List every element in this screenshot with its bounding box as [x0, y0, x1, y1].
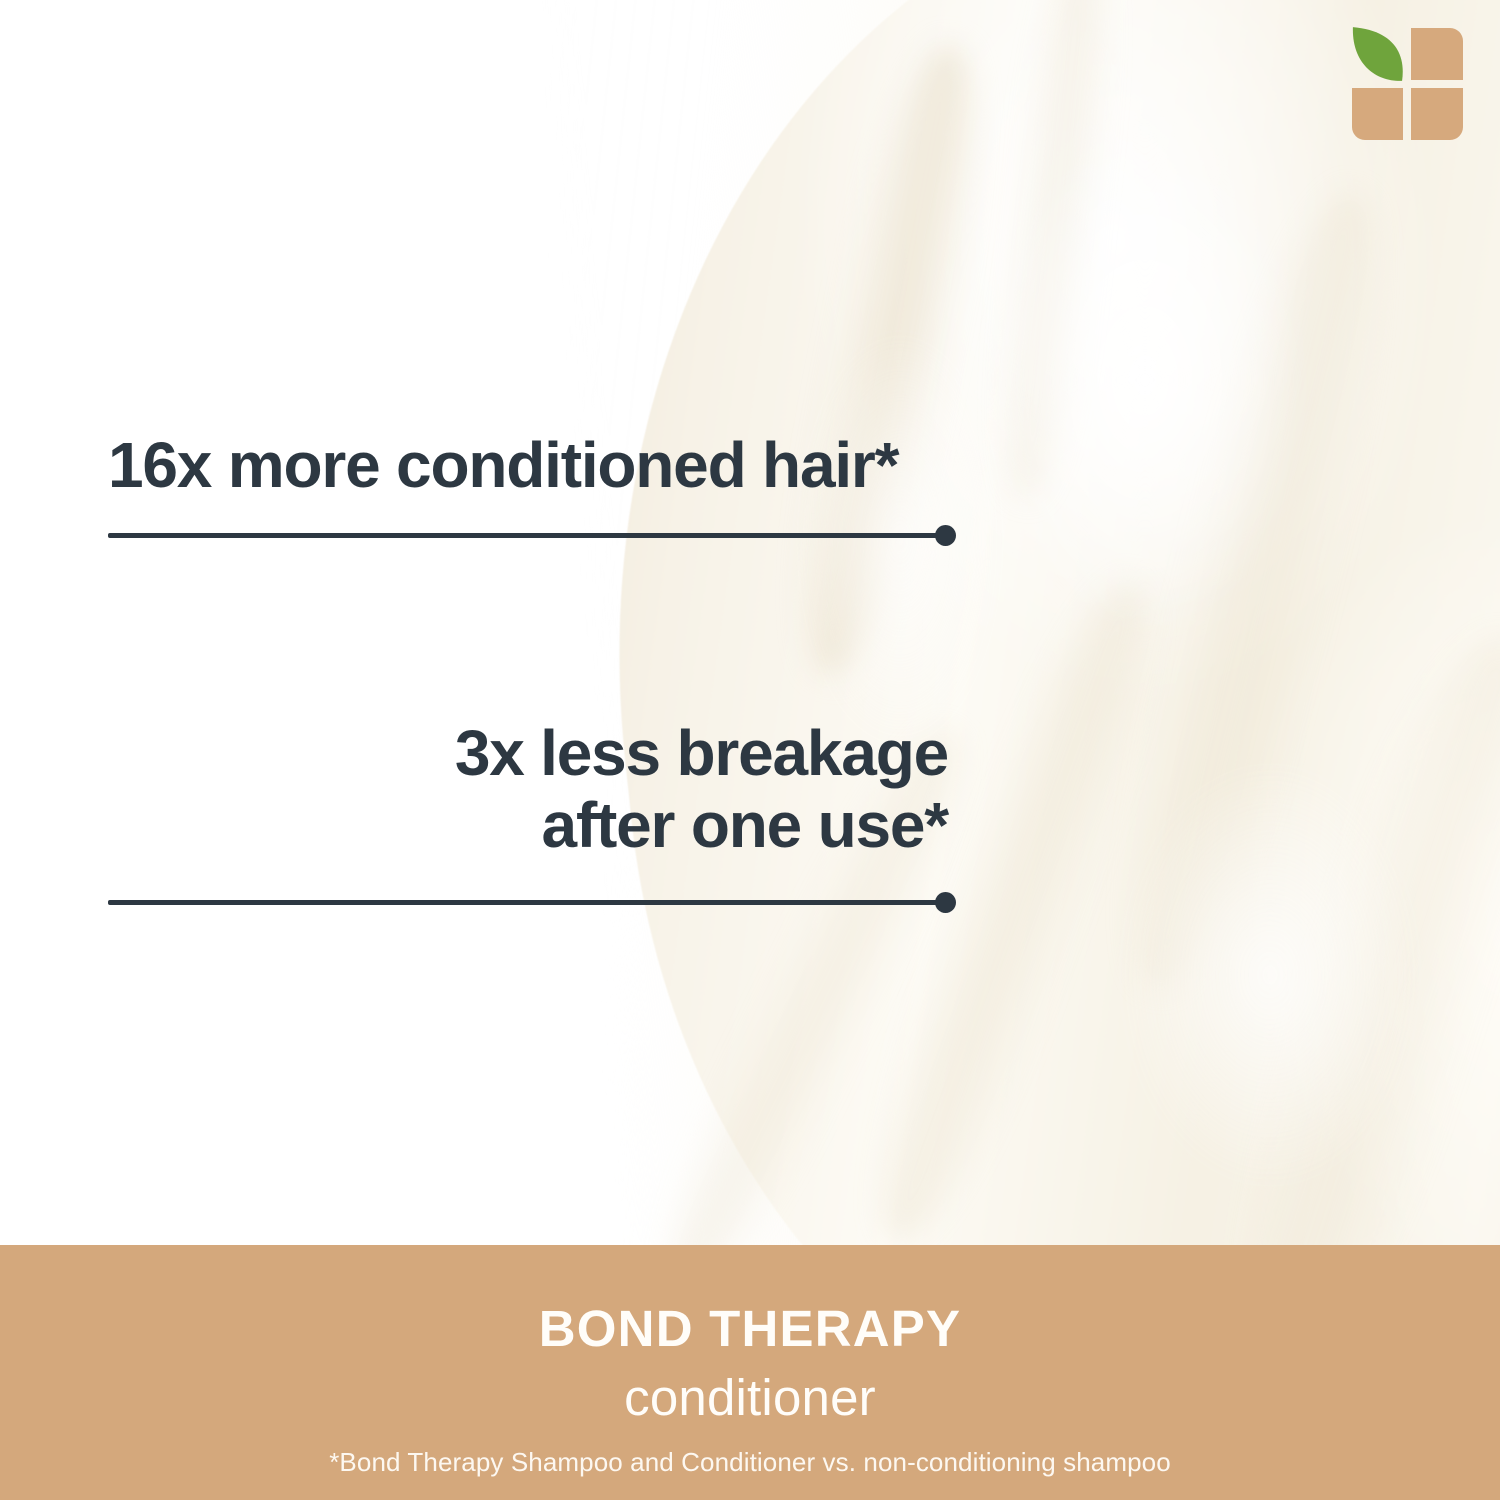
leaf-quadrant-logo-icon — [1346, 22, 1468, 147]
brand-logo — [1346, 22, 1468, 147]
product-claim-card: 16x more conditioned hair* 3x less break… — [0, 0, 1500, 1500]
rule-endpoint-dot — [935, 892, 956, 913]
rule-endpoint-dot — [935, 525, 956, 546]
product-banner: BOND THERAPY conditioner *Bond Therapy S… — [0, 1245, 1500, 1500]
claim-text-1: 16x more conditioned hair* — [98, 430, 958, 502]
claim-text-2: 3x less breakage after one use* — [98, 718, 958, 861]
claim-rule-2 — [98, 891, 956, 913]
claims-group: 16x more conditioned hair* 3x less break… — [0, 0, 1500, 1245]
product-type: conditioner — [624, 1372, 876, 1423]
product-name: BOND THERAPY — [539, 1303, 961, 1354]
claim-block-2: 3x less breakage after one use* — [98, 718, 958, 913]
claim-rule-1 — [98, 524, 956, 546]
rule-bar — [108, 900, 946, 905]
rule-bar — [108, 533, 946, 538]
claim-block-1: 16x more conditioned hair* — [98, 430, 958, 546]
claim-footnote: *Bond Therapy Shampoo and Conditioner vs… — [329, 1449, 1171, 1475]
